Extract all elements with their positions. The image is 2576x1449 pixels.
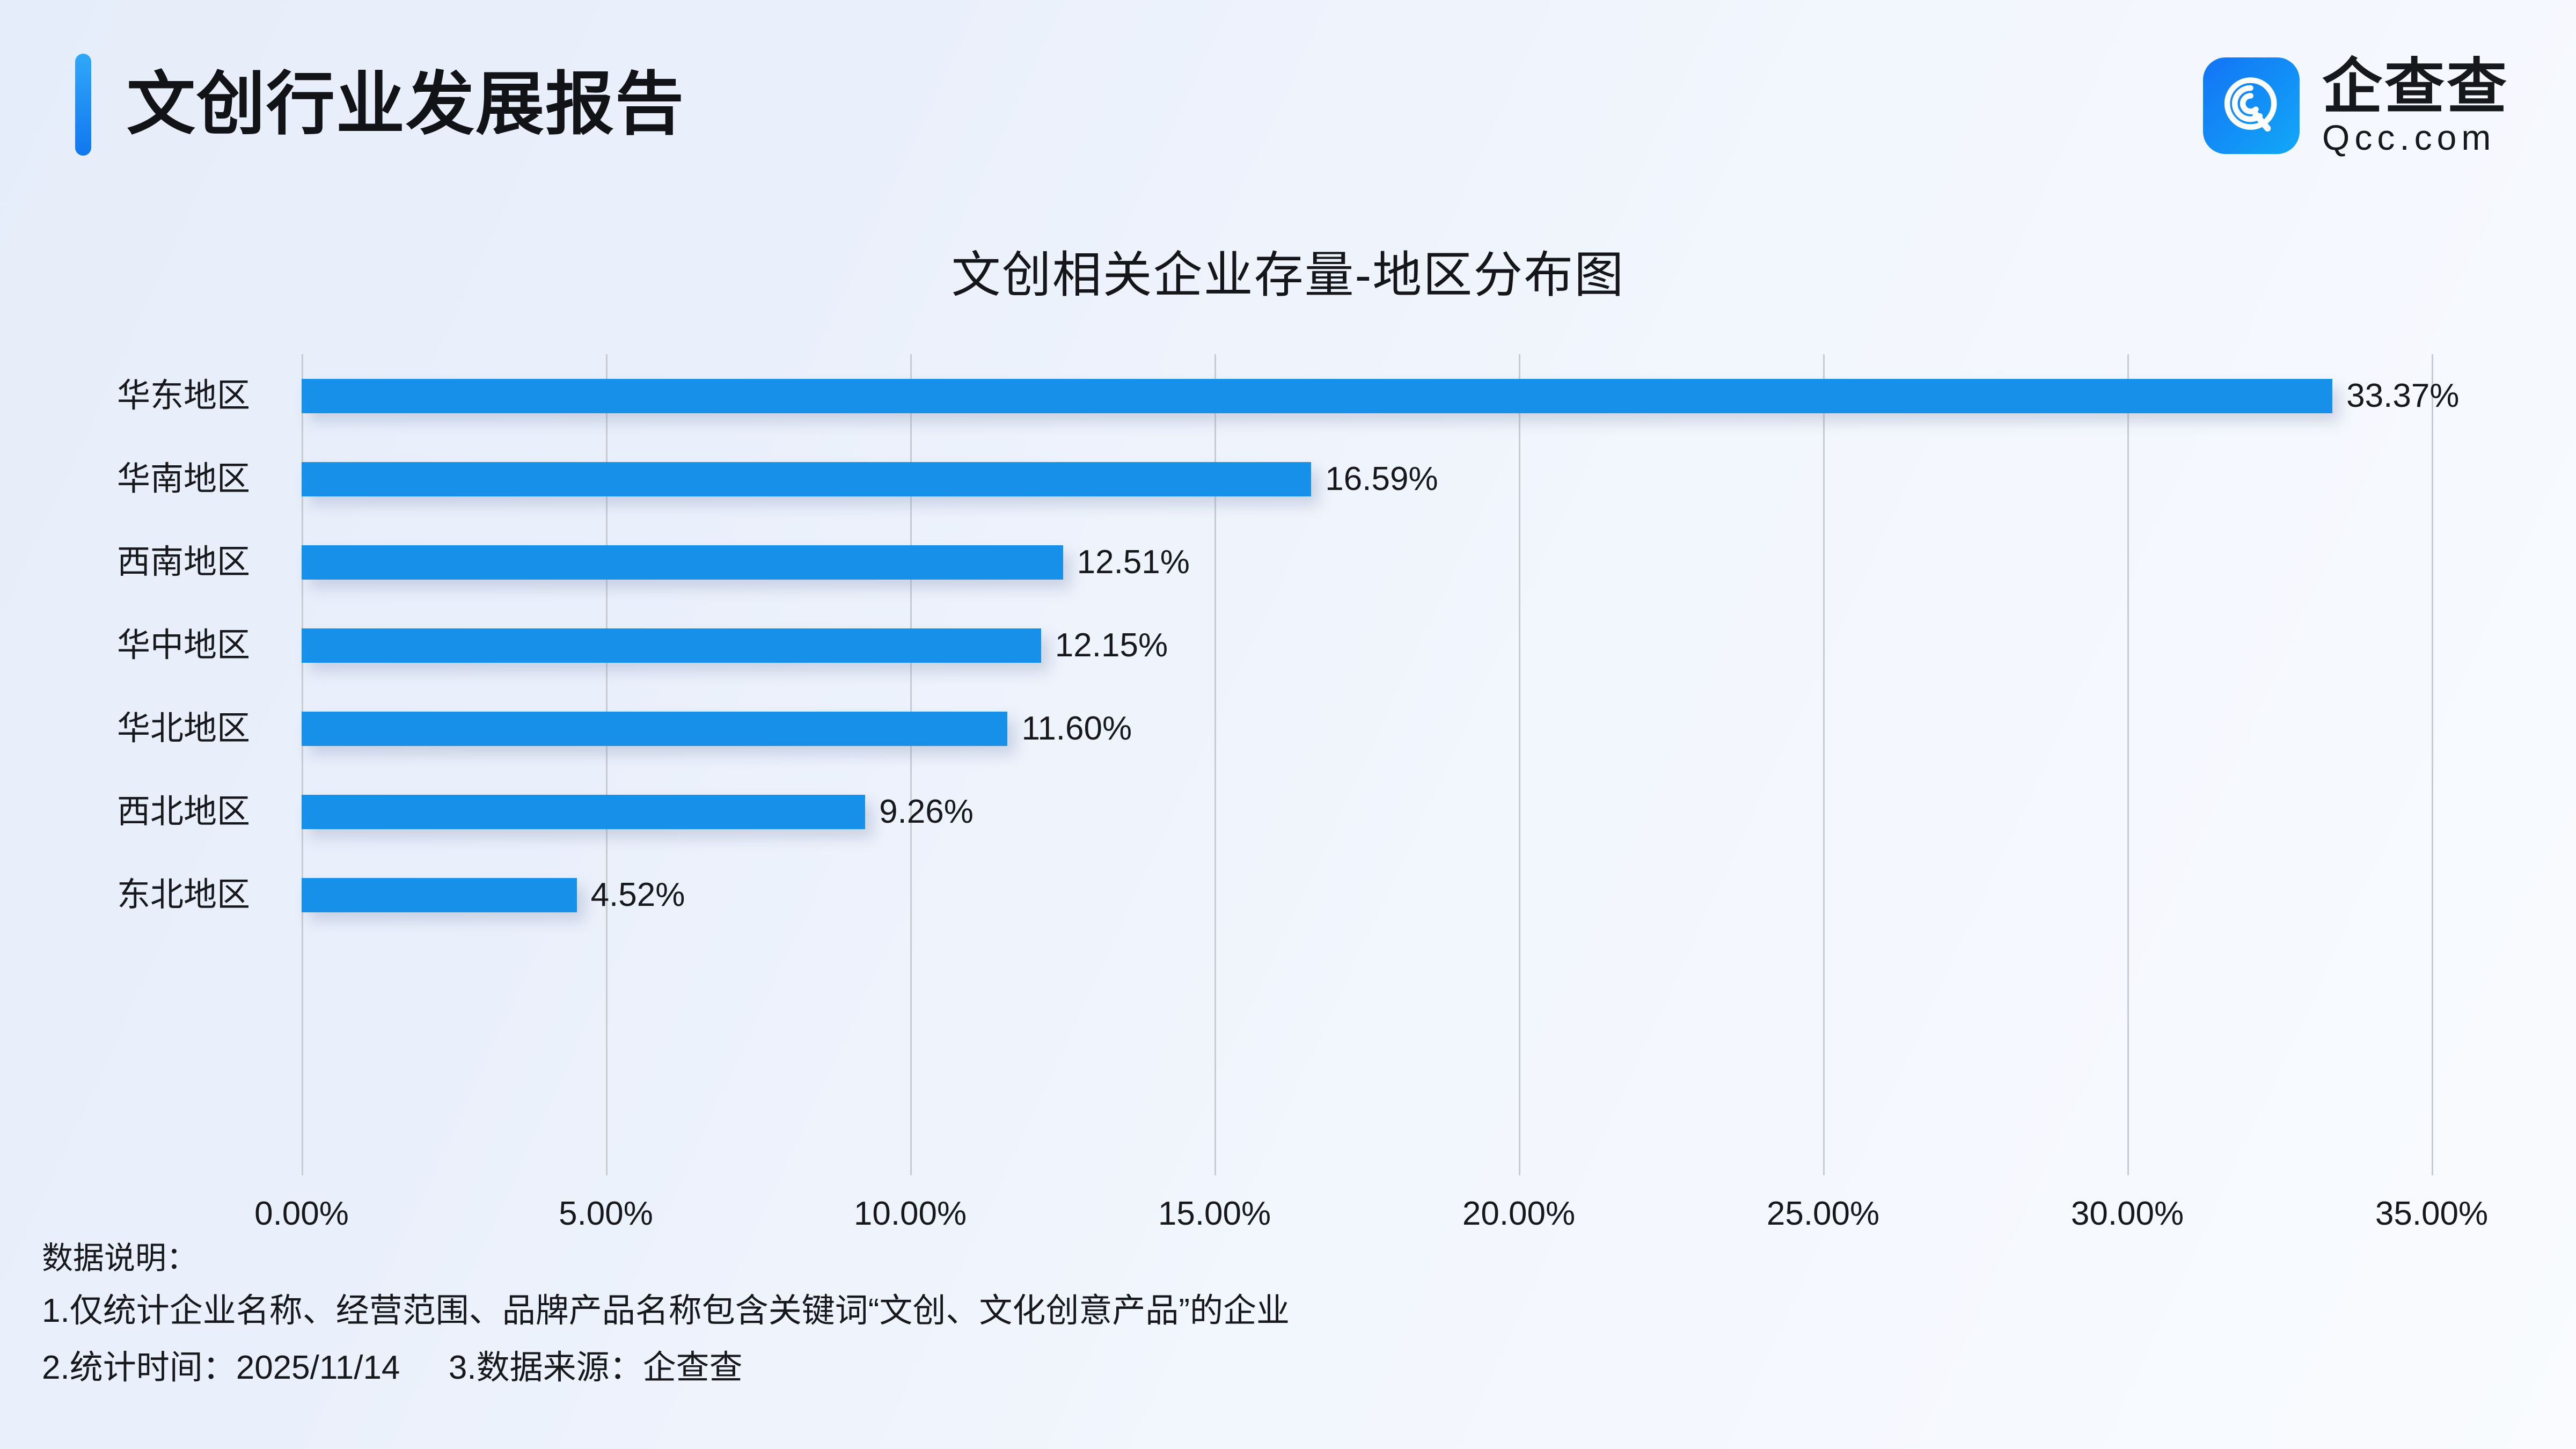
bar-value-label: 12.15% — [1055, 623, 1168, 668]
brand-logo[interactable]: 企查查 Qcc.com — [2203, 56, 2509, 155]
bar-value-label: 16.59% — [1325, 457, 1438, 502]
bar-value-label: 33.37% — [2346, 374, 2459, 419]
bar-row[interactable]: 华中地区12.15% — [302, 604, 2432, 687]
bar-chart-plot-area: 华东地区33.37%华南地区16.59%西南地区12.51%华中地区12.15%… — [302, 354, 2432, 1175]
bar-row[interactable]: 华东地区33.37% — [302, 354, 2432, 437]
x-axis-tick-label: 35.00% — [2375, 1191, 2488, 1236]
bar[interactable] — [302, 545, 1063, 580]
note-line-2: 2.统计时间：2025/11/14 3.数据来源：企查查 — [42, 1340, 2532, 1396]
note-stat-time: 2.统计时间：2025/11/14 — [42, 1349, 400, 1386]
bar[interactable] — [302, 462, 1311, 496]
bar[interactable] — [302, 379, 2332, 413]
bar-value-label: 11.60% — [1021, 706, 1132, 751]
footer-notes: 数据说明： 1.仅统计企业名称、经营范围、品牌产品名称包含关键词“文创、文化创意… — [42, 1234, 2532, 1396]
bar-row[interactable]: 东北地区4.52% — [302, 853, 2432, 936]
bar-row[interactable]: 西南地区12.51% — [302, 521, 2432, 604]
x-axis-tick-label: 10.00% — [854, 1191, 967, 1236]
bar-value-label: 4.52% — [591, 873, 685, 918]
page-header: 文创行业发展报告 企查查 Qcc.com — [0, 0, 2576, 215]
category-label: 华北地区 — [25, 706, 250, 751]
bar[interactable] — [302, 628, 1041, 663]
category-label: 华南地区 — [25, 457, 250, 502]
qcc-target-q-icon — [2203, 57, 2300, 154]
bar[interactable] — [302, 878, 577, 912]
brand-name-cn: 企查查 — [2322, 56, 2509, 118]
brand-wordmark: 企查查 Qcc.com — [2322, 56, 2509, 155]
x-axis-tick-label: 20.00% — [1462, 1191, 1575, 1236]
category-label: 华东地区 — [25, 374, 250, 419]
note-data-source: 3.数据来源：企查查 — [449, 1349, 743, 1386]
chart-title: 文创相关企业存量-地区分布图 — [0, 235, 2576, 306]
notes-label: 数据说明： — [42, 1234, 2532, 1283]
brand-name-en: Qcc.com — [2322, 120, 2509, 155]
category-label: 西南地区 — [25, 540, 250, 585]
category-label: 西北地区 — [25, 789, 250, 835]
bar-value-label: 12.51% — [1077, 540, 1190, 585]
page-title: 文创行业发展报告 — [127, 70, 685, 139]
note-line-1: 1.仅统计企业名称、经营范围、品牌产品名称包含关键词“文创、文化创意产品”的企业 — [42, 1283, 2532, 1340]
bar-row[interactable]: 华北地区11.60% — [302, 687, 2432, 770]
x-axis-tick-label: 30.00% — [2071, 1191, 2184, 1236]
x-axis-tick-label: 25.00% — [1767, 1191, 1879, 1236]
gridline — [2432, 354, 2433, 1175]
x-axis-tick-label: 0.00% — [254, 1191, 349, 1236]
bar[interactable] — [302, 712, 1007, 746]
x-axis-tick-label: 15.00% — [1158, 1191, 1271, 1236]
bar-row[interactable]: 华南地区16.59% — [302, 437, 2432, 521]
category-label: 华中地区 — [25, 623, 250, 668]
x-axis-tick-label: 5.00% — [559, 1191, 653, 1236]
category-label: 东北地区 — [25, 873, 250, 918]
bar-value-label: 9.26% — [879, 789, 974, 835]
title-accent-bar — [75, 54, 91, 156]
report-title-block: 文创行业发展报告 — [75, 54, 685, 156]
bar-row[interactable]: 西北地区9.26% — [302, 770, 2432, 853]
bar[interactable] — [302, 795, 865, 829]
